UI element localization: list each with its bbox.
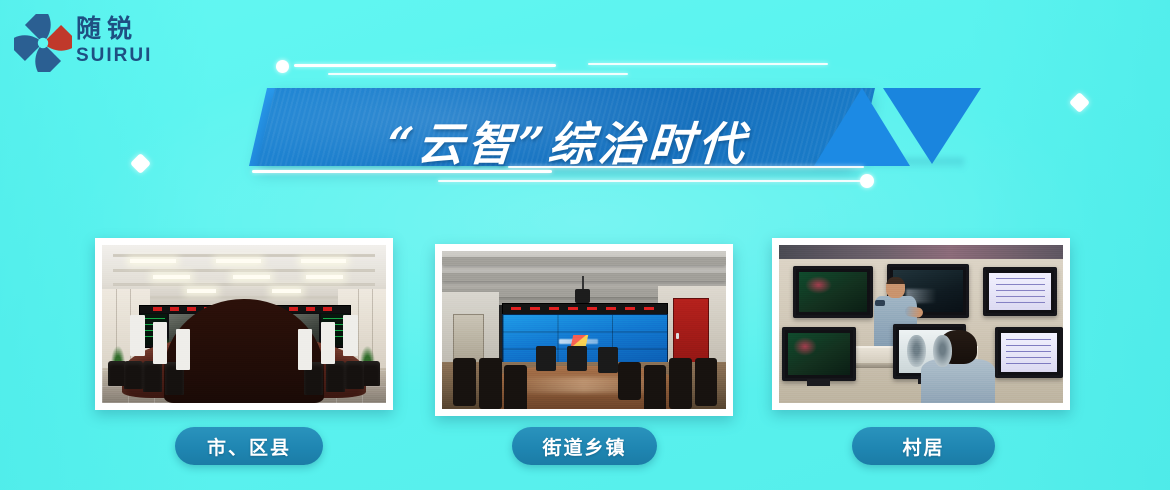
decor-line-bottom-1: [252, 170, 552, 173]
photo-street-township-meeting-room: [442, 251, 726, 409]
photo-card-list: [0, 238, 1170, 418]
decor-dot-bottom-right: [860, 174, 874, 188]
category-label-village[interactable]: 村居: [852, 427, 995, 465]
photo-card[interactable]: [95, 238, 393, 410]
brand-name-en: SUIRUI: [76, 45, 192, 67]
decor-line-bottom-3: [508, 166, 864, 168]
brand-logo-text: 随锐 SUIRUI: [76, 14, 192, 72]
banner-triangle-down: [883, 88, 981, 164]
decor-line-bottom-2: [438, 180, 868, 182]
photo-card[interactable]: [772, 238, 1070, 410]
title-banner: “云智”综治时代: [258, 58, 948, 190]
decor-line-top-2: [328, 73, 628, 75]
category-label-city-district[interactable]: 市、区县: [175, 427, 323, 465]
category-label-street-township[interactable]: 街道乡镇: [512, 427, 657, 465]
category-label-list: 市、区县 街道乡镇 村居: [0, 427, 1170, 471]
decor-line-top-3: [588, 63, 828, 65]
photo-card[interactable]: [435, 244, 733, 416]
brand-logo[interactable]: 随锐 SUIRUI: [14, 12, 194, 74]
brand-name-cn: 随锐: [76, 14, 192, 44]
decor-dot-top-left: [276, 60, 289, 73]
photo-village-monitoring-room: [779, 245, 1063, 403]
pinwheel-diamond-logo-icon: [14, 14, 72, 72]
slide-root: 随锐 SUIRUI “云智”综治时代: [0, 0, 1170, 490]
photo-command-conference-hall: [102, 245, 386, 403]
decor-line-top-1: [294, 64, 556, 67]
